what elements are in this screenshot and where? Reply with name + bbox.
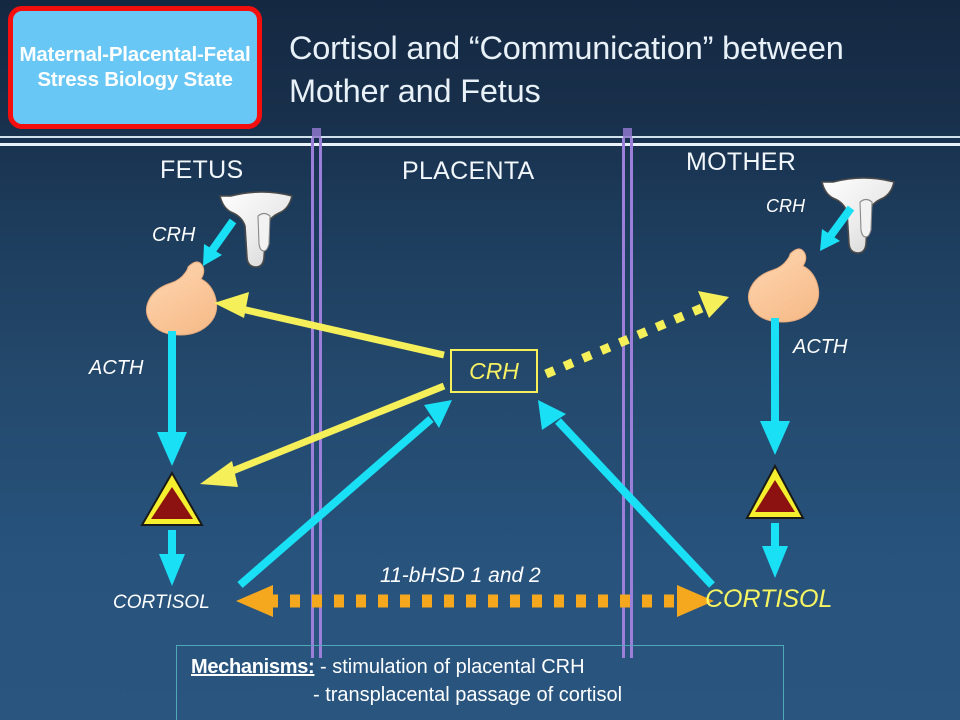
membrane-line-maternal-outer xyxy=(630,138,633,658)
label-cortisol-fetus: CORTISOL xyxy=(113,592,210,614)
label-acth-mother: ACTH xyxy=(793,336,847,359)
column-label-mother: MOTHER xyxy=(686,148,796,177)
label-crh-mother: CRH xyxy=(766,196,805,217)
divider-stub-right xyxy=(623,128,632,138)
slide-canvas: Maternal-Placental-Fetal Stress Biology … xyxy=(0,0,960,720)
column-label-placenta: PLACENTA xyxy=(402,157,535,186)
transplacental-cortisol-arrow xyxy=(236,585,714,617)
acth-arrow-mother xyxy=(760,318,790,455)
mechanisms-heading: Mechanisms: xyxy=(191,656,314,678)
mechanisms-box: Mechanisms: - stimulation of placental C… xyxy=(176,645,784,720)
column-label-fetus: FETUS xyxy=(160,156,243,185)
membrane-line-maternal-inner xyxy=(622,138,625,658)
crh-arrow-fetus xyxy=(203,221,233,266)
pituitary-gland-icon-mother xyxy=(748,249,818,322)
slide-title: Cortisol and “Communication” between Mot… xyxy=(289,27,949,113)
acth-arrow-fetus xyxy=(157,331,187,466)
mechanisms-line-2: - transplacental passage of cortisol xyxy=(191,681,783,709)
membrane-line-fetal-inner xyxy=(311,138,314,658)
mechanisms-line-1: - stimulation of placental CRH xyxy=(314,656,584,678)
label-enzyme-11bhsd: 11-bHSD 1 and 2 xyxy=(380,564,541,588)
hypothalamus-icon-mother xyxy=(822,178,894,253)
hypothalamus-icon-fetus xyxy=(220,192,292,267)
label-acth-fetus: ACTH xyxy=(89,357,143,380)
crh-to-fetal-pituitary-arrow xyxy=(214,292,444,355)
placental-crh-box: CRH xyxy=(450,349,538,393)
fetal-cortisol-to-crh-arrow xyxy=(240,400,452,585)
crh-to-fetal-adrenal-arrow xyxy=(200,386,444,487)
label-cortisol-mother: CORTISOL xyxy=(705,585,832,614)
label-crh-fetus: CRH xyxy=(152,224,195,247)
topic-badge: Maternal-Placental-Fetal Stress Biology … xyxy=(8,6,262,129)
membrane-line-fetal-outer xyxy=(319,138,322,658)
maternal-cortisol-to-crh-arrow xyxy=(538,400,712,585)
adrenal-gland-icon-fetus xyxy=(142,473,202,525)
topic-badge-label: Maternal-Placental-Fetal Stress Biology … xyxy=(19,43,251,91)
divider-stub-left xyxy=(312,128,321,138)
header-rule-top xyxy=(0,136,960,138)
crh-to-maternal-pituitary-dotted-arrow xyxy=(546,291,729,374)
header-rule-bottom xyxy=(0,143,960,146)
adrenal-gland-icon-mother xyxy=(747,466,803,518)
cortisol-arrow-mother xyxy=(762,523,788,578)
cortisol-arrow-fetus xyxy=(159,530,185,586)
crh-arrow-mother xyxy=(820,208,851,251)
pituitary-gland-icon-fetus xyxy=(146,262,216,335)
placental-crh-box-label: CRH xyxy=(469,358,519,385)
